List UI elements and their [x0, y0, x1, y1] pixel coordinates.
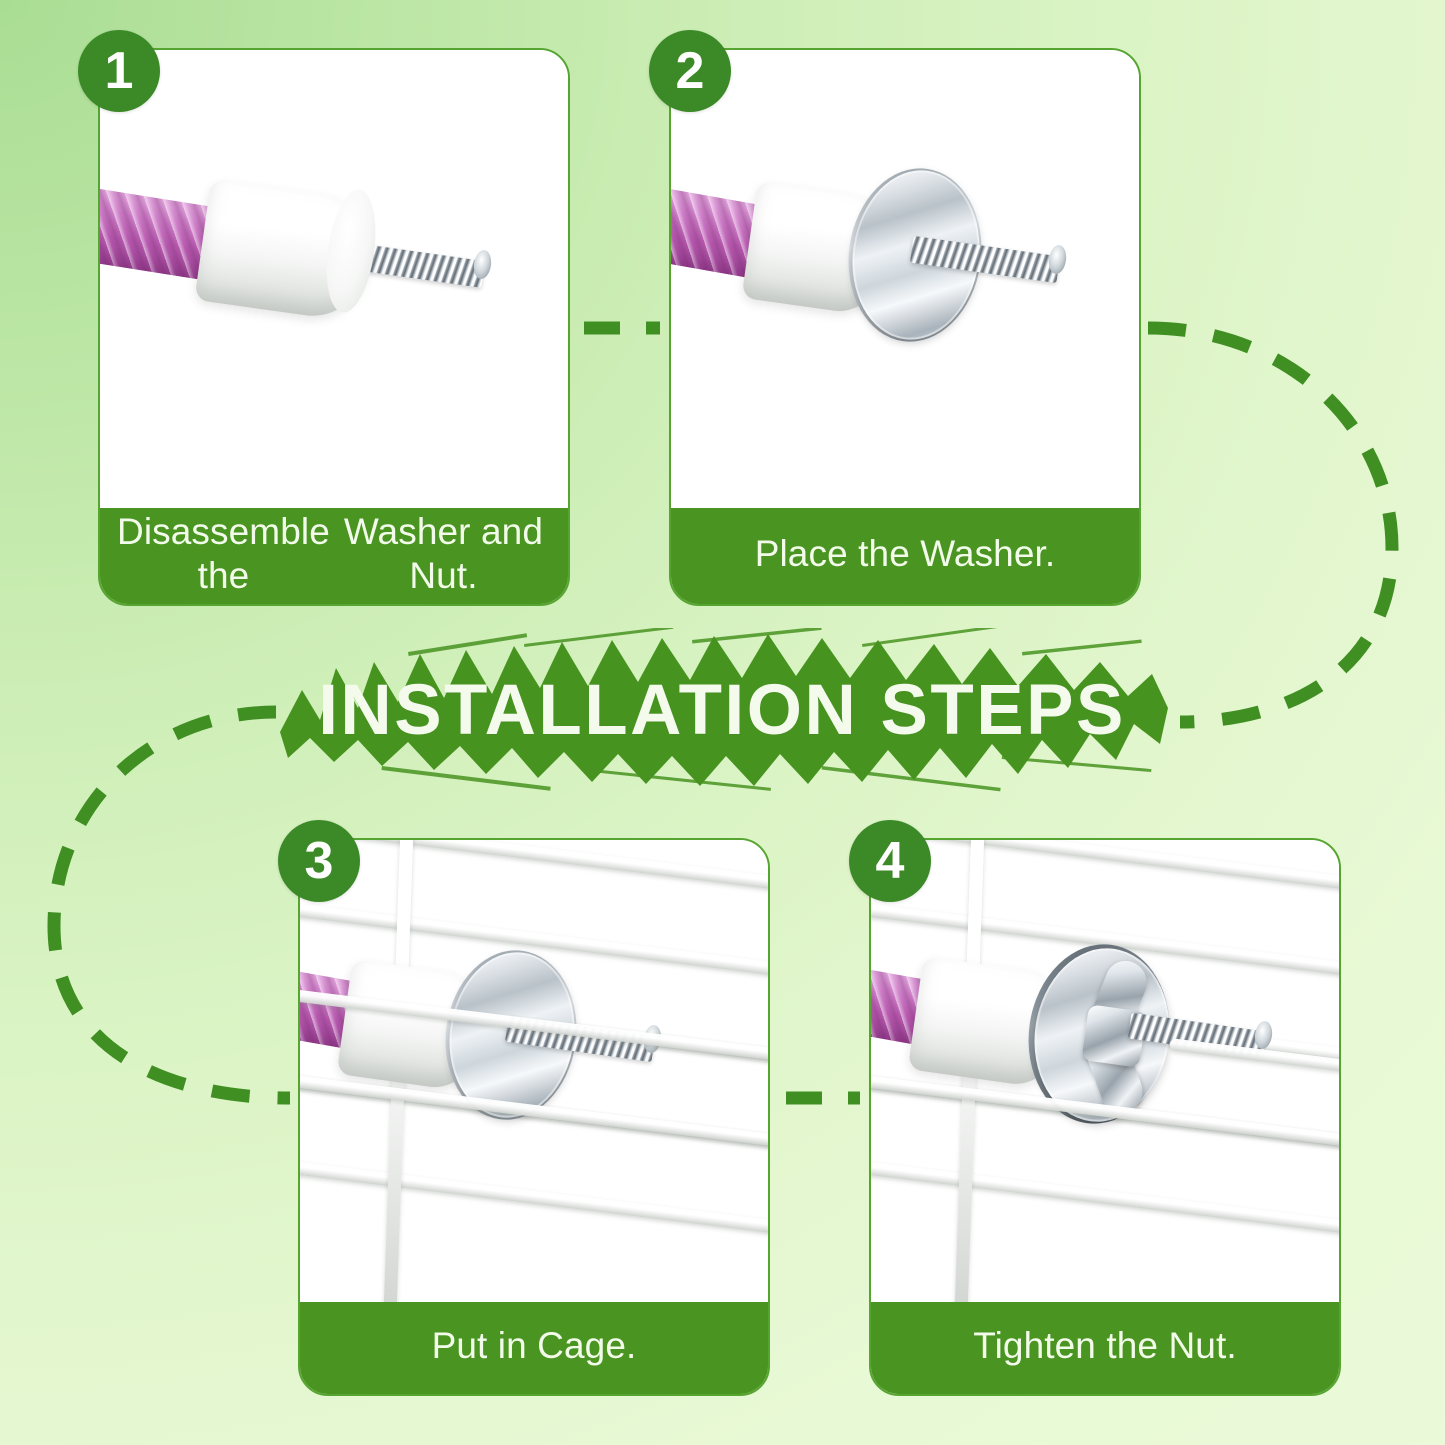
step-caption-3: Put in Cage.	[300, 1302, 768, 1394]
dashed-arc-left	[54, 712, 290, 1098]
title-banner: INSTALLATION STEPS	[262, 628, 1182, 796]
bolt-tip	[1047, 244, 1068, 275]
step-card-1[interactable]: Disassemble theWasher and Nut.	[98, 48, 570, 606]
bolt-tip	[472, 249, 493, 280]
step-caption-2: Place the Washer.	[671, 508, 1139, 604]
cage-grid-foreground	[300, 840, 768, 1302]
step-photo-3	[300, 840, 768, 1302]
step-photo-4	[871, 840, 1339, 1302]
step-caption-1: Disassemble theWasher and Nut.	[100, 508, 568, 604]
step-card-3[interactable]: Put in Cage.	[298, 838, 770, 1396]
step-photo-1	[100, 50, 568, 508]
step-photo-2	[671, 50, 1139, 508]
step-badge-1: 1	[78, 30, 160, 112]
step-card-4[interactable]: Tighten the Nut.	[869, 838, 1341, 1396]
cage-grid-foreground	[871, 840, 1339, 1302]
step-caption-4: Tighten the Nut.	[871, 1302, 1339, 1394]
step-badge-2: 2	[649, 30, 731, 112]
step-badge-3: 3	[278, 820, 360, 902]
dashed-arc-right	[1148, 328, 1392, 722]
step-badge-4: 4	[849, 820, 931, 902]
page-title: INSTALLATION STEPS	[262, 628, 1182, 796]
step-card-2[interactable]: Place the Washer.	[669, 48, 1141, 606]
infographic-canvas: Disassemble theWasher and Nut. 1 Place t…	[0, 0, 1445, 1445]
